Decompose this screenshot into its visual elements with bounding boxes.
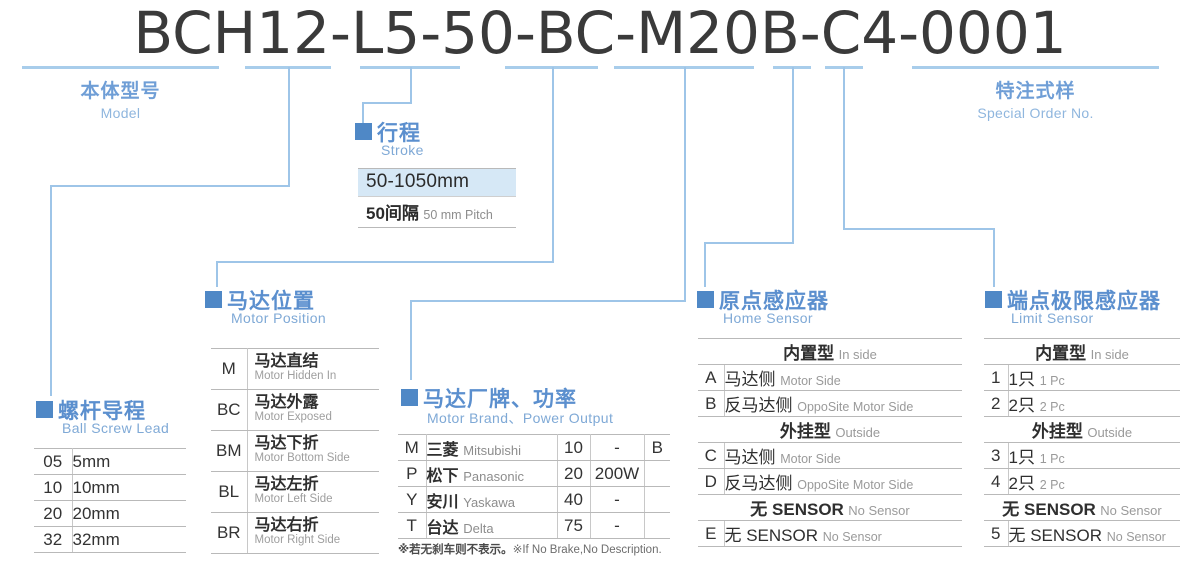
row-brand: 三菱 Mitsubishi [426,435,557,461]
bullet-square-icon [697,291,714,308]
motor-position-table: M马达直结Motor Hidden InBC马达外露Motor ExposedB… [211,348,379,554]
row-value: 32mm [72,527,186,553]
leader-home-sensor-v2 [704,242,706,287]
table-row: C马达侧 Motor Side [698,443,962,469]
row-brand-en: Panasonic [463,469,524,484]
row-label-cn: 马达侧 [725,448,776,467]
row-brand-en: Yaskawa [463,495,515,510]
row-brake [644,461,670,487]
row-label-en: Motor Side [780,452,840,466]
band-cell: 内置型 In side [698,339,962,365]
row-value: 马达直结Motor Hidden In [247,349,379,390]
band-cell: 内置型 In side [984,339,1180,365]
motor-position-body: M马达直结Motor Hidden InBC马达外露Motor ExposedB… [211,349,379,554]
table-row: Y安川 Yaskawa40- [398,487,670,513]
band-label-cn: 内置型 [783,344,834,363]
band-cell: 无 SENSOR No Sensor [984,495,1180,521]
stroke-pitch-row: 50间隔 50 mm Pitch [358,197,516,228]
row-value: 马达右折Motor Right Side [247,513,379,554]
row-label-en: 2 Pc [1040,478,1065,492]
row-value: 20mm [72,501,186,527]
table-row: T台达 Delta75- [398,513,670,539]
row-code: D [698,469,724,495]
table-row: D反马达侧 OppoSite Motor Side [698,469,962,495]
leader-motor-brand-v2 [410,300,412,380]
row-brake: B [644,435,670,461]
row-brand: 松下 Panasonic [426,461,557,487]
table-row: E无 SENSOR No Sensor [698,521,962,547]
limit-sensor-body: 内置型 In side11只 1 Pc22只 2 Pc外挂型 Outside31… [984,339,1180,547]
bullet-square-icon [205,291,222,308]
table-row: M三菱 Mitsubishi10-B [398,435,670,461]
row-label-cn: 马达下折 [255,436,380,452]
group-ball-screw-lead-en: Ball Screw Lead [62,420,169,436]
band-label-en: Outside [1087,425,1132,440]
limit-sensor-table: 内置型 In side11只 1 Pc22只 2 Pc外挂型 Outside31… [984,338,1180,547]
leader-stroke-v2 [362,102,364,124]
code-segment-model: BCH12 [133,2,330,64]
row-value: 反马达侧 OppoSite Motor Side [724,469,962,495]
group-motor-position-en: Motor Position [231,310,326,326]
row-code: 1 [984,365,1008,391]
band-label-en: No Sensor [848,503,909,518]
code-dash-6: - [898,2,919,64]
row-code: 3 [984,443,1008,469]
row-power-value: - [590,435,644,461]
group-stroke-en: Stroke [381,142,424,158]
table-row: 3232mm [34,527,186,553]
row-power-code: 40 [557,487,590,513]
leader-home-sensor-h [704,242,794,244]
row-code: 10 [34,475,72,501]
row-code: E [698,521,724,547]
leader-stroke-v1 [410,67,412,104]
row-label-cn: 2只 [1009,396,1035,415]
table-row: 055mm [34,449,186,475]
row-value: 10mm [72,475,186,501]
band-label-en: In side [1091,347,1129,362]
leader-ball-screw-h [50,185,290,187]
motor-brand-note-en: ※If No Brake,No Description. [513,544,662,556]
row-label-en: OppoSite Motor Side [797,400,913,414]
row-label-en: No Sensor [1107,530,1166,544]
row-code: 2 [984,391,1008,417]
row-brand-cn: 三菱 [427,442,459,459]
bullet-square-icon [401,389,418,406]
row-value: 2只 2 Pc [1008,391,1180,417]
row-value: 反马达侧 OppoSite Motor Side [724,391,962,417]
stroke-table: 50-1050mm 50间隔 50 mm Pitch [358,168,516,228]
row-value: 马达外露Motor Exposed [247,390,379,431]
code-segment-limit-sensor: 4 [861,2,898,64]
row-label-cn: 无 SENSOR [1009,526,1103,545]
row-label-en: Motor Left Side [255,494,380,506]
row-code: BR [211,513,247,554]
motor-brand-note: ※若无刹车则不表示。※If No Brake,No Description. [398,541,662,557]
row-label-cn: 1只 [1009,370,1035,389]
row-value: 2只 2 Pc [1008,469,1180,495]
table-row: 42只 2 Pc [984,469,1180,495]
row-code: P [398,461,426,487]
leader-motor-brand-v1 [684,67,686,302]
row-label-cn: 反马达侧 [725,396,793,415]
row-value: 马达侧 Motor Side [724,365,962,391]
table-row: 11只 1 Pc [984,365,1180,391]
motor-brand-body: M三菱 Mitsubishi10-BP松下 Panasonic20200WY安川… [398,435,670,539]
ball-screw-lead-body: 055mm1010mm2020mm3232mm [34,449,186,553]
row-power-value: - [590,513,644,539]
table-row: 22只 2 Pc [984,391,1180,417]
row-code: 5 [984,521,1008,547]
band-cell: 外挂型 Outside [984,417,1180,443]
code-segment-motor-brand: M20B [636,2,800,64]
row-code: Y [398,487,426,513]
band-label-cn: 无 SENSOR [1002,500,1096,519]
table-band-row: 外挂型 Outside [984,417,1180,443]
label-model-en: Model [22,105,219,121]
table-row: A马达侧 Motor Side [698,365,962,391]
row-power-code: 10 [557,435,590,461]
band-label-en: Outside [835,425,880,440]
leader-motor-position-v2 [216,261,218,287]
leader-motor-brand-h [410,300,686,302]
code-dash-1: - [330,2,351,64]
row-label-en: Motor Exposed [255,412,380,424]
row-label-en: Motor Bottom Side [255,453,380,465]
row-label-cn: 马达直结 [255,354,380,370]
row-label-en: Motor Hidden In [255,371,380,383]
row-brand-cn: 安川 [427,494,459,511]
band-label-cn: 外挂型 [1032,422,1083,441]
ball-screw-lead-table: 055mm1010mm2020mm3232mm [34,448,186,553]
row-label-en: No Sensor [823,530,882,544]
label-special-order-cn: 特注式样 [912,76,1159,103]
bullet-square-icon [985,291,1002,308]
table-row: BR马达右折Motor Right Side [211,513,379,554]
row-code: BM [211,431,247,472]
row-code: 32 [34,527,72,553]
leader-limit-sensor-v1 [843,67,845,230]
label-special-order-en: Special Order No. [912,105,1159,121]
table-band-row: 内置型 In side [698,339,962,365]
row-value: 1只 1 Pc [1008,365,1180,391]
row-value: 马达左折Motor Left Side [247,472,379,513]
band-label-en: No Sensor [1100,503,1161,518]
table-row: 1010mm [34,475,186,501]
row-code: BC [211,390,247,431]
code-dash-3: - [515,2,536,64]
band-label-cn: 外挂型 [780,422,831,441]
home-sensor-table: 内置型 In sideA马达侧 Motor SideB反马达侧 OppoSite… [698,338,962,547]
row-brand-cn: 台达 [427,520,459,537]
leader-motor-position-h [216,261,554,263]
code-underline-special-order [912,66,1159,69]
code-underline-model [22,66,219,69]
table-band-row: 外挂型 Outside [698,417,962,443]
diagram-canvas: BCH12-L5-50-BC-M20B-C4-0001 本体型号 Model 特… [0,0,1200,575]
table-row: M马达直结Motor Hidden In [211,349,379,390]
row-code: 05 [34,449,72,475]
code-segment-lead: L5 [351,2,420,64]
code-segment-home-sensor: C [821,2,862,64]
leader-limit-sensor-h [843,228,995,230]
band-label-cn: 无 SENSOR [750,500,844,519]
row-label-cn: 马达右折 [255,518,380,534]
row-value: 1只 1 Pc [1008,443,1180,469]
row-label-en: 1 Pc [1040,374,1065,388]
band-label-cn: 内置型 [1035,344,1086,363]
stroke-range-row: 50-1050mm [358,168,516,197]
table-row: 31只 1 Pc [984,443,1180,469]
code-dash-2: - [420,2,441,64]
band-cell: 无 SENSOR No Sensor [698,495,962,521]
row-code: BL [211,472,247,513]
row-value: 无 SENSOR No Sensor [1008,521,1180,547]
leader-home-sensor-v1 [792,67,794,244]
label-model-cn: 本体型号 [22,76,219,103]
home-sensor-body: 内置型 In sideA马达侧 Motor SideB反马达侧 OppoSite… [698,339,962,547]
leader-motor-position-v1 [552,67,554,263]
row-brake [644,513,670,539]
row-value: 马达下折Motor Bottom Side [247,431,379,472]
row-label-en: 1 Pc [1040,452,1065,466]
label-model: 本体型号 Model [22,76,219,121]
row-brand: 台达 Delta [426,513,557,539]
row-power-value: 200W [590,461,644,487]
table-row: BC马达外露Motor Exposed [211,390,379,431]
code-segment-motor-position: BC [536,2,615,64]
row-label-cn: 无 SENSOR [725,526,819,545]
row-brand-cn: 松下 [427,468,459,485]
row-label-cn: 1只 [1009,448,1035,467]
row-code: 20 [34,501,72,527]
row-brake [644,487,670,513]
group-home-sensor-en: Home Sensor [723,310,813,326]
table-row: 5无 SENSOR No Sensor [984,521,1180,547]
table-row: BM马达下折Motor Bottom Side [211,431,379,472]
group-motor-brand-en: Motor Brand、Power Output [427,408,613,428]
row-label-cn: 2只 [1009,474,1035,493]
label-special-order: 特注式样 Special Order No. [912,76,1159,121]
bullet-square-icon [36,401,53,418]
row-brand-en: Delta [463,521,493,536]
leader-stroke-h [362,102,412,104]
row-brand-en: Mitsubishi [463,443,521,458]
table-row: P松下 Panasonic20200W [398,461,670,487]
leader-ball-screw-v2 [50,185,52,396]
row-value: 马达侧 Motor Side [724,443,962,469]
band-cell: 外挂型 Outside [698,417,962,443]
table-band-row: 无 SENSOR No Sensor [698,495,962,521]
code-dash-4: - [615,2,636,64]
table-row: B反马达侧 OppoSite Motor Side [698,391,962,417]
table-row: BL马达左折Motor Left Side [211,472,379,513]
bullet-square-icon [355,123,372,140]
row-label-en: Motor Right Side [255,535,380,547]
row-label-en: Motor Side [780,374,840,388]
row-value: 无 SENSOR No Sensor [724,521,962,547]
row-code: T [398,513,426,539]
table-band-row: 无 SENSOR No Sensor [984,495,1180,521]
model-code: BCH12-L5-50-BC-M20B-C4-0001 [0,2,1200,64]
band-label-en: In side [839,347,877,362]
table-row: 2020mm [34,501,186,527]
row-power-code: 75 [557,513,590,539]
row-label-cn: 马达外露 [255,395,380,411]
row-label-cn: 马达侧 [725,370,776,389]
group-limit-sensor-en: Limit Sensor [1011,310,1094,326]
row-code: M [211,349,247,390]
row-label-cn: 反马达侧 [725,474,793,493]
row-code: B [698,391,724,417]
row-code: M [398,435,426,461]
motor-brand-note-cn: ※若无刹车则不表示。 [398,544,513,556]
code-segment-special-order: 0001 [919,2,1067,64]
row-brand: 安川 Yaskawa [426,487,557,513]
row-label-en: 2 Pc [1040,400,1065,414]
stroke-pitch-en: 50 mm Pitch [423,208,492,222]
row-code: 4 [984,469,1008,495]
row-label-cn: 马达左折 [255,477,380,493]
row-power-value: - [590,487,644,513]
row-power-code: 20 [557,461,590,487]
motor-brand-table: M三菱 Mitsubishi10-BP松下 Panasonic20200WY安川… [398,434,670,539]
code-dash-5: - [800,2,821,64]
row-label-en: OppoSite Motor Side [797,478,913,492]
row-code: A [698,365,724,391]
row-value: 5mm [72,449,186,475]
row-code: C [698,443,724,469]
table-band-row: 内置型 In side [984,339,1180,365]
code-segment-stroke: 50 [441,2,515,64]
leader-ball-screw-v1 [288,67,290,186]
leader-limit-sensor-v2 [993,228,995,287]
stroke-pitch-cn: 50间隔 [366,204,419,223]
